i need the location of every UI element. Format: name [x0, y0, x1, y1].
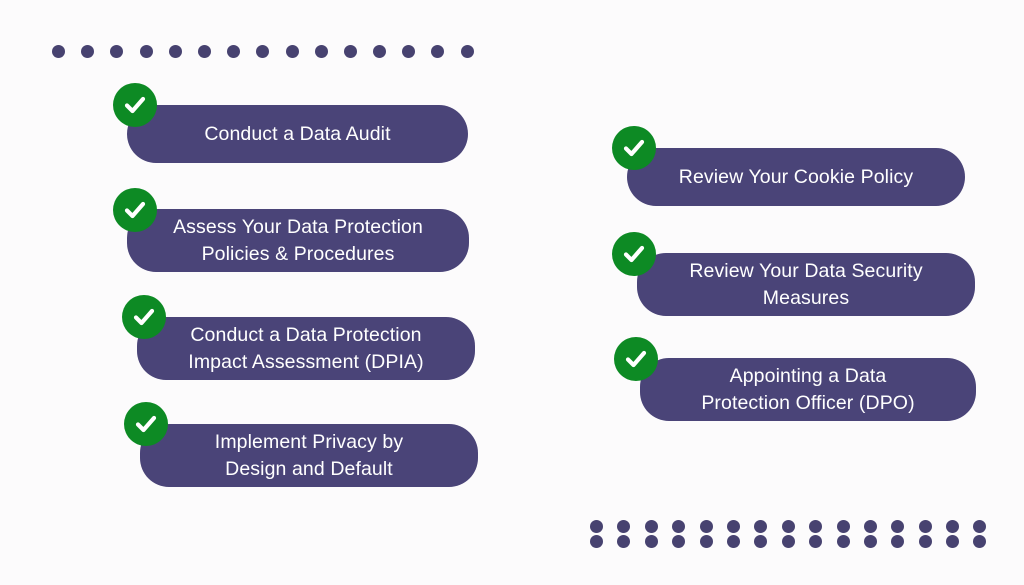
decoration-dot: [782, 520, 795, 533]
checklist-item-label: Assess Your Data Protection Policies & P…: [173, 214, 423, 268]
check-mark-icon: [614, 337, 658, 381]
decoration-dot: [891, 535, 904, 548]
decoration-dot: [809, 535, 822, 548]
decoration-dot: [700, 520, 713, 533]
bottom-dot-decoration: [590, 520, 986, 548]
checklist-item-label: Conduct a Data Protection Impact Assessm…: [188, 322, 423, 376]
decoration-dot: [837, 535, 850, 548]
decoration-dot: [617, 520, 630, 533]
decoration-dot: [727, 520, 740, 533]
checklist-item-label: Review Your Data Security Measures: [689, 258, 922, 312]
decoration-dot: [645, 520, 658, 533]
decoration-dot: [645, 535, 658, 548]
decoration-dot: [754, 520, 767, 533]
decoration-dot: [864, 535, 877, 548]
decoration-dot: [837, 520, 850, 533]
decoration-dot: [52, 45, 65, 58]
decoration-dot: [590, 520, 603, 533]
decoration-dot: [809, 520, 822, 533]
decoration-dot: [946, 520, 959, 533]
decoration-dot: [110, 45, 123, 58]
check-mark-icon: [612, 232, 656, 276]
check-mark-icon: [113, 188, 157, 232]
decoration-dot: [169, 45, 182, 58]
checklist-item-label: Appointing a Data Protection Officer (DP…: [701, 363, 914, 417]
decoration-dot: [946, 535, 959, 548]
decoration-dot: [286, 45, 299, 58]
checklist-item-label: Review Your Cookie Policy: [679, 164, 913, 191]
checklist-pill[interactable]: Assess Your Data Protection Policies & P…: [127, 209, 469, 272]
decoration-dot: [431, 45, 444, 58]
decoration-dot: [315, 45, 328, 58]
decoration-dot: [919, 535, 932, 548]
check-mark-icon: [122, 295, 166, 339]
decoration-dot: [864, 520, 877, 533]
decoration-dot: [344, 45, 357, 58]
decoration-dot: [227, 45, 240, 58]
decoration-dot: [81, 45, 94, 58]
check-mark-icon: [612, 126, 656, 170]
decoration-dot: [256, 45, 269, 58]
decoration-dot: [973, 535, 986, 548]
decoration-dot: [461, 45, 474, 58]
decoration-dot: [672, 520, 685, 533]
checklist-item-label: Implement Privacy by Design and Default: [215, 429, 403, 483]
decoration-dot: [754, 535, 767, 548]
decoration-dot: [672, 535, 685, 548]
decoration-dot: [402, 45, 415, 58]
decoration-dot: [140, 45, 153, 58]
checklist-pill[interactable]: Implement Privacy by Design and Default: [140, 424, 478, 487]
check-mark-icon: [113, 83, 157, 127]
decoration-dot: [590, 535, 603, 548]
decoration-dot: [919, 520, 932, 533]
decoration-dot: [198, 45, 211, 58]
checklist-pill[interactable]: Appointing a Data Protection Officer (DP…: [640, 358, 976, 421]
decoration-dot: [891, 520, 904, 533]
checklist-pill[interactable]: Review Your Cookie Policy: [627, 148, 965, 206]
checklist-pill[interactable]: Review Your Data Security Measures: [637, 253, 975, 316]
checklist-pill[interactable]: Conduct a Data Audit: [127, 105, 468, 163]
checklist-pill[interactable]: Conduct a Data Protection Impact Assessm…: [137, 317, 475, 380]
bottom-dot-row: [590, 520, 986, 533]
decoration-dot: [373, 45, 386, 58]
decoration-dot: [727, 535, 740, 548]
top-dot-decoration: [52, 45, 474, 58]
checklist-item-label: Conduct a Data Audit: [204, 121, 390, 148]
decoration-dot: [782, 535, 795, 548]
bottom-dot-row: [590, 535, 986, 548]
decoration-dot: [700, 535, 713, 548]
decoration-dot: [617, 535, 630, 548]
check-mark-icon: [124, 402, 168, 446]
decoration-dot: [973, 520, 986, 533]
checklist-graphic: Conduct a Data Audit Assess Your Data Pr…: [0, 0, 1024, 585]
